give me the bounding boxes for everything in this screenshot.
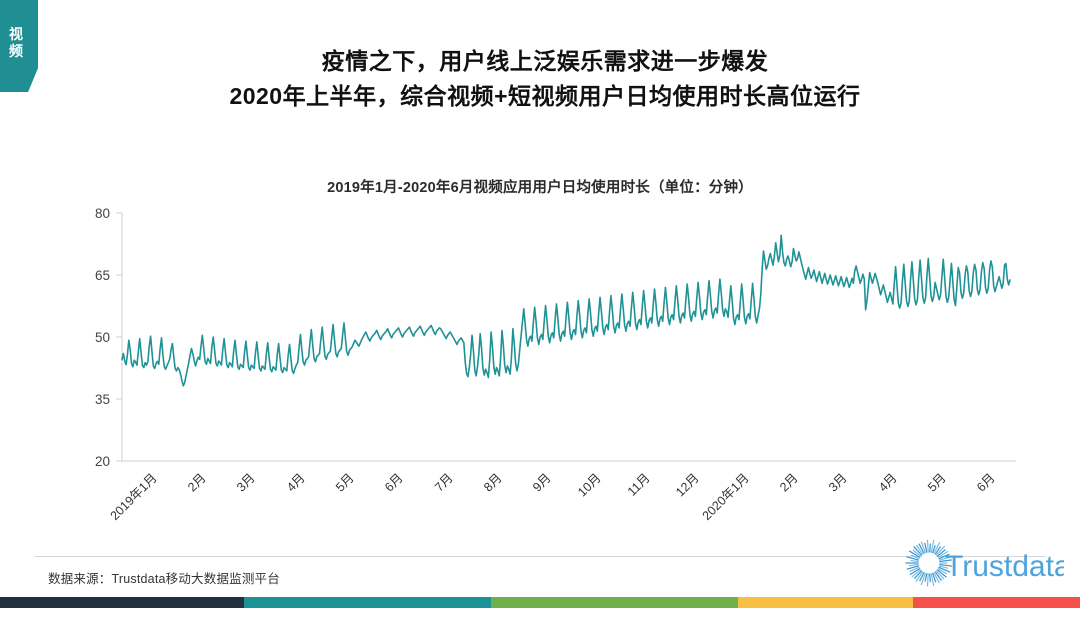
footer-colorbar [0,597,1080,608]
footer-divider [34,556,1046,557]
y-axis-tick-label: 35 [95,392,110,407]
sunburst-ray [927,573,928,586]
chart-title: 2019年1月-2020年6月视频应用用户日均使用时长（单位：分钟） [0,176,1080,197]
sunburst-ray [927,540,928,553]
page-title: 疫情之下，用户线上泛娱乐需求进一步爆发 2020年上半年，综合视频+短视频用户日… [120,44,970,113]
y-axis-tick-label: 80 [95,206,110,221]
colorbar-segment-green [491,597,738,608]
chart-svg: 8065503520 [0,200,1080,470]
colorbar-segment-red [913,597,1080,608]
ribbon-label-char-1: 视 [0,26,32,43]
series-line-video-duration [122,235,1010,385]
sunburst-core [920,554,939,573]
data-source-note: 数据来源：Trustdata移动大数据监测平台 [48,568,280,587]
y-axis-tick-label: 50 [95,330,110,345]
sunburst-ray [910,560,918,561]
slide-root: 视 频 疫情之下，用户线上泛娱乐需求进一步爆发 2020年上半年，综合视频+短视… [0,0,1080,608]
section-ribbon-video: 视 频 [0,0,38,92]
y-axis: 8065503520 [95,206,122,469]
colorbar-segment-teal [244,597,491,608]
trustdata-logo: Trustdata [898,534,1064,592]
y-axis-tick-label: 65 [95,268,110,283]
title-line-2: 2020年上半年，综合视频+短视频用户日均使用时长高位运行 [120,79,970,114]
sunburst-ray [909,564,918,565]
trustdata-logo-svg: Trustdata [898,534,1064,592]
colorbar-segment-navy [0,597,244,608]
ribbon-label-char-2: 频 [0,43,32,60]
trustdata-wordmark: Trustdata [945,550,1064,583]
ribbon-label: 视 频 [0,26,32,59]
sunburst-ray [930,544,931,553]
x-axis-labels: 2019年1月2月3月4月5月6月7月8月9月10月11月12月2020年1月2… [0,462,1080,542]
title-line-1: 疫情之下，用户线上泛娱乐需求进一步爆发 [120,44,970,79]
sunburst-ray [930,573,931,582]
colorbar-segment-yellow [738,597,913,608]
chart-plot: 8065503520 [0,200,1080,470]
